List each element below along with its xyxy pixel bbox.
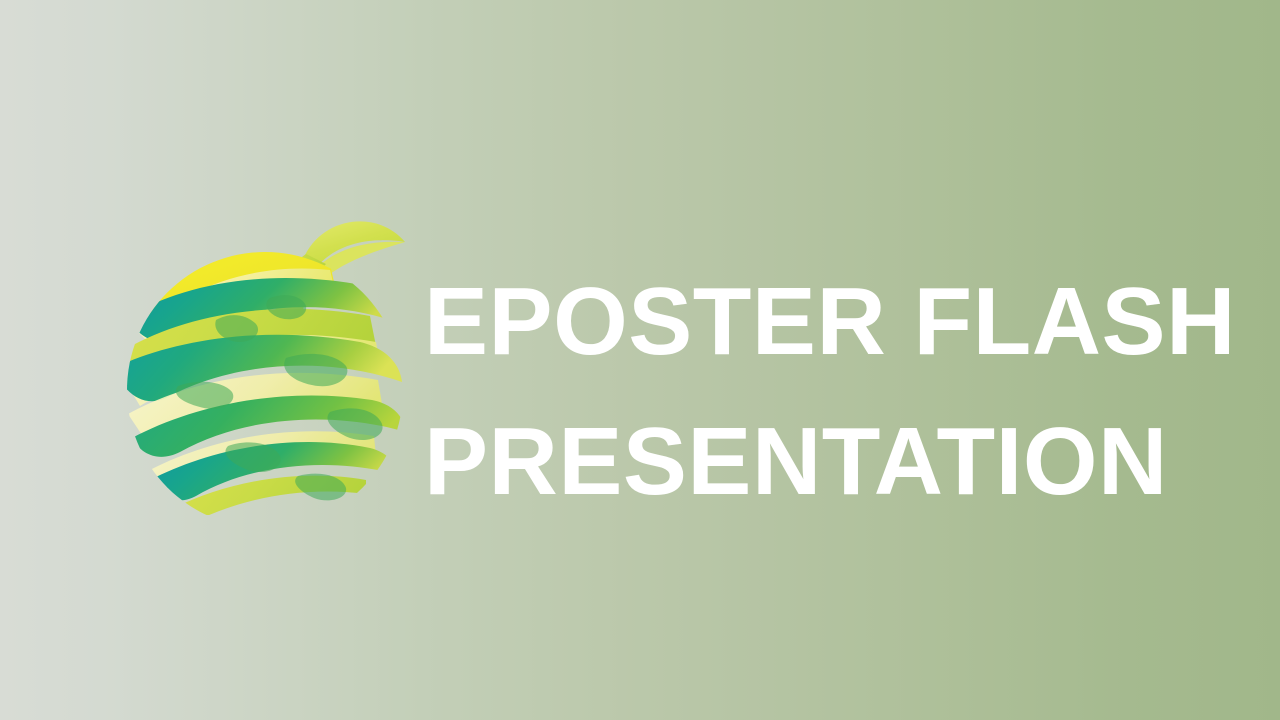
brand-logo — [120, 200, 410, 515]
title-line-2: PRESENTATION — [424, 392, 1204, 532]
slide-canvas: EPOSTER FLASH PRESENTATION — [0, 0, 1280, 720]
globe-ribbons — [120, 244, 406, 515]
slide-title: EPOSTER FLASH PRESENTATION — [424, 252, 1204, 532]
title-line-1: EPOSTER FLASH — [424, 252, 1204, 392]
